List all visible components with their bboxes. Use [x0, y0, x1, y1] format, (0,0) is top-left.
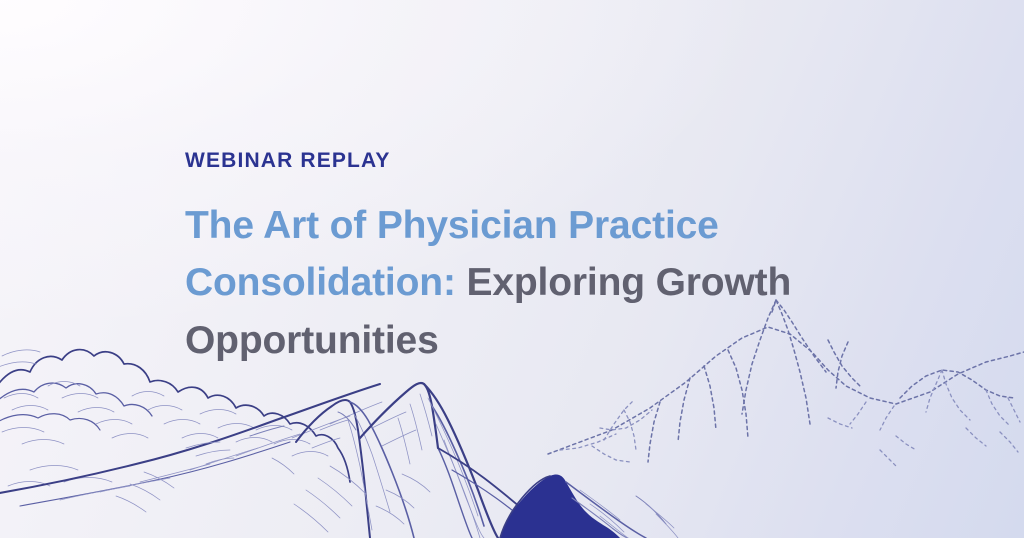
navy-filled-slope — [500, 475, 620, 538]
eyebrow-label: WEBINAR REPLAY — [185, 150, 825, 171]
webinar-replay-banner: .ink { fill:none; stroke:#3b3f86; stroke… — [0, 0, 1024, 538]
foreground-ridge-left — [0, 384, 382, 506]
headline-block: WEBINAR REPLAY The Art of Physician Prac… — [185, 150, 825, 369]
central-peaks — [296, 383, 532, 538]
upper-left-wisps — [0, 350, 40, 368]
page-title: The Art of Physician Practice Consolidat… — [185, 197, 825, 369]
midground-hatch-marks — [116, 426, 366, 532]
left-cloud-ridge — [0, 350, 350, 486]
right-lower-ridge — [566, 482, 678, 538]
